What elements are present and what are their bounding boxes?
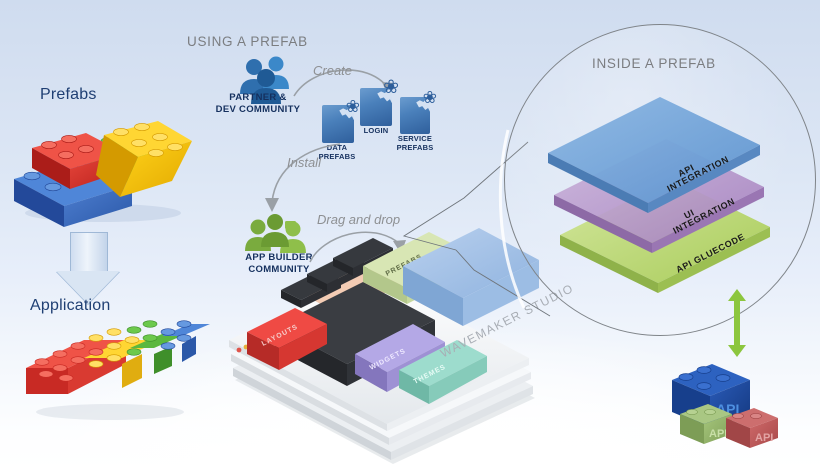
gear-icon: ❀ bbox=[346, 98, 360, 115]
api-bricks-illustration: API API API bbox=[668, 362, 808, 462]
prefabs-label: Prefabs bbox=[40, 86, 97, 104]
gear-icon: ❀ bbox=[383, 79, 399, 96]
inside-a-prefab-heading: INSIDE A PREFAB bbox=[592, 56, 716, 71]
prefabs-lego-illustration bbox=[8, 105, 198, 225]
login-prefab-icon[interactable]: ❀ bbox=[360, 88, 392, 126]
api-brick-label-red: API bbox=[755, 432, 773, 444]
create-arrow-label: Create bbox=[313, 63, 352, 78]
using-a-prefab-heading: USING A PREFAB bbox=[187, 34, 308, 49]
diagram-canvas: Prefabs bbox=[0, 0, 820, 470]
install-arrow-label: Install bbox=[287, 155, 321, 170]
api-brick-label-green: API bbox=[709, 428, 727, 440]
down-arrow-icon bbox=[56, 232, 120, 304]
green-double-arrow-icon bbox=[728, 289, 746, 357]
drag-and-drop-label: Drag and drop bbox=[317, 212, 400, 227]
data-prefab-icon[interactable]: ❀ bbox=[322, 105, 354, 143]
gear-icon: ❀ bbox=[423, 89, 437, 106]
application-lego-illustration bbox=[22, 316, 202, 426]
install-arrow-icon bbox=[258, 140, 348, 222]
application-label: Application bbox=[30, 297, 110, 315]
prefab-layers-illustration: API INTEGRATION UI INTEGRATION API GLUEC… bbox=[520, 85, 810, 315]
